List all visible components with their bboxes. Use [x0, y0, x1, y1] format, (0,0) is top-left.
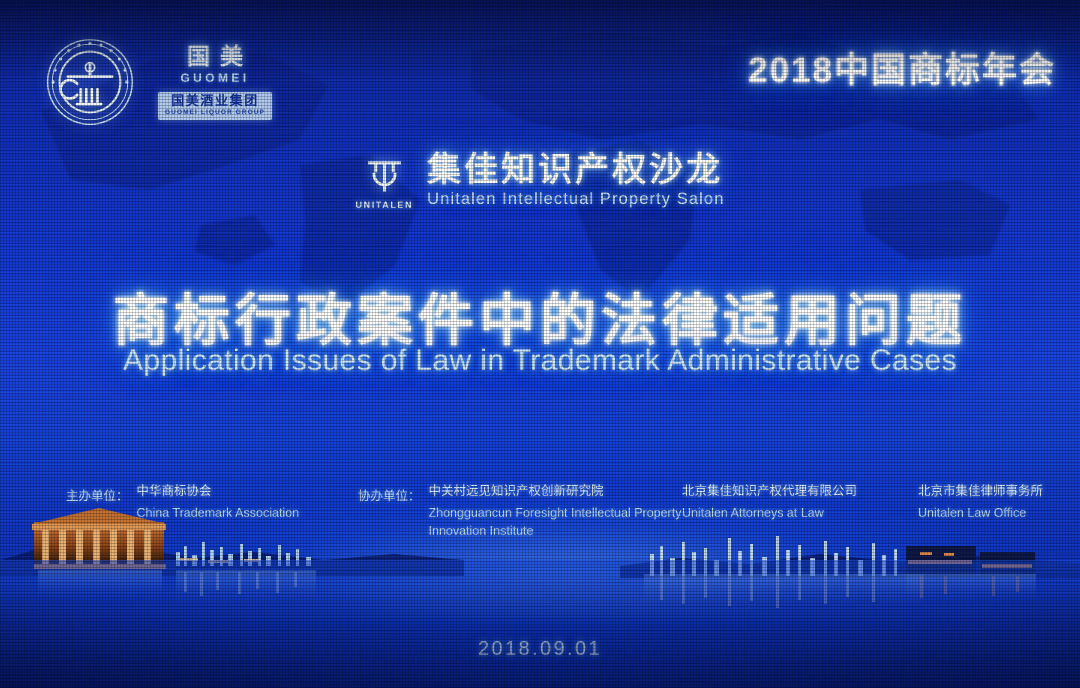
organizer-name-en: China Trademark Association: [137, 504, 300, 522]
guomei-group-cn: 国美酒业集团: [171, 94, 259, 109]
organizer-name-en: Unitalen Attorneys at Law: [682, 504, 857, 522]
organizer-label: 主办单位：: [66, 484, 129, 504]
organizer-name-en: Zhongguancun Foresight Intellectual Prop…: [429, 504, 682, 540]
organizer-block-unitalen-attorneys: 北京集佳知识产权代理有限公司 Unitalen Attorneys at Law: [682, 484, 857, 522]
organizer-name-cn: 北京市集佳律师事务所: [918, 484, 1043, 500]
organizer-body: 北京市集佳律师事务所 Unitalen Law Office: [918, 484, 1043, 522]
guomei-liquor-group-badge: 国美酒业集团 GUOMEI LIQUOR GROUP: [158, 92, 272, 120]
organizer-name-en-line: Zhongguancun Foresight Intellectual Prop…: [429, 504, 682, 522]
salon-text-block: 集佳知识产权沙龙 Unitalen Intellectual Property …: [427, 152, 724, 210]
event-date: 2018.09.01: [478, 638, 602, 661]
organizer-name-cn: 中华商标协会: [137, 484, 300, 500]
salon-title-cn: 集佳知识产权沙龙: [427, 152, 724, 189]
guomei-name-en: GUOMEI: [180, 72, 249, 85]
unitalen-mark: UNITALEN: [356, 152, 414, 210]
guomei-group-en: GUOMEI LIQUOR GROUP: [165, 109, 265, 117]
organizer-block-host: 主办单位： 中华商标协会 China Trademark Association: [66, 484, 299, 522]
guomei-logo: 国美 GUOMEI 国美酒业集团 GUOMEI LIQUOR GROUP: [158, 44, 272, 119]
unitalen-trident-icon: [363, 155, 405, 197]
conference-banner-title: 2018中国商标年会: [748, 42, 1056, 93]
led-screen-stage: 国美 GUOMEI 国美酒业集团 GUOMEI LIQUOR GROUP 201…: [0, 0, 1080, 688]
organizer-block-co-host: 协办单位： 中关村远见知识产权创新研究院 Zhongguancun Foresi…: [358, 484, 681, 540]
organizer-name-cn: 北京集佳知识产权代理有限公司: [682, 484, 857, 500]
organizer-name-cn: 中关村远见知识产权创新研究院: [429, 484, 682, 500]
salon-title-en: Unitalen Intellectual Property Salon: [427, 190, 724, 210]
organizer-label: 协办单位：: [358, 484, 421, 504]
organizer-name-en-line: Unitalen Attorneys at Law: [682, 504, 857, 522]
organizer-body: 中关村远见知识产权创新研究院 Zhongguancun Foresight In…: [429, 484, 682, 540]
organizer-body: 中华商标协会 China Trademark Association: [137, 484, 300, 522]
main-title-en: Application Issues of Law in Trademark A…: [123, 344, 957, 378]
organizer-body: 北京集佳知识产权代理有限公司 Unitalen Attorneys at Law: [682, 484, 857, 522]
china-trademark-association-seal-icon: [44, 36, 136, 128]
organizer-name-en-line: Unitalen Law Office: [918, 504, 1043, 522]
organizer-block-unitalen-law-office: 北京市集佳律师事务所 Unitalen Law Office: [918, 484, 1043, 522]
guomei-name-cn: 国美: [177, 44, 253, 68]
unitalen-wordmark: UNITALEN: [356, 200, 414, 210]
sponsor-logo-row: 国美 GUOMEI 国美酒业集团 GUOMEI LIQUOR GROUP: [44, 36, 272, 128]
salon-lockup: UNITALEN 集佳知识产权沙龙 Unitalen Intellectual …: [356, 152, 725, 210]
organizer-name-en-line: China Trademark Association: [137, 504, 300, 522]
water-surface: [0, 560, 1080, 688]
organizer-name-en: Unitalen Law Office: [918, 504, 1043, 522]
organizer-name-en-line: Innovation Institute: [429, 522, 682, 540]
